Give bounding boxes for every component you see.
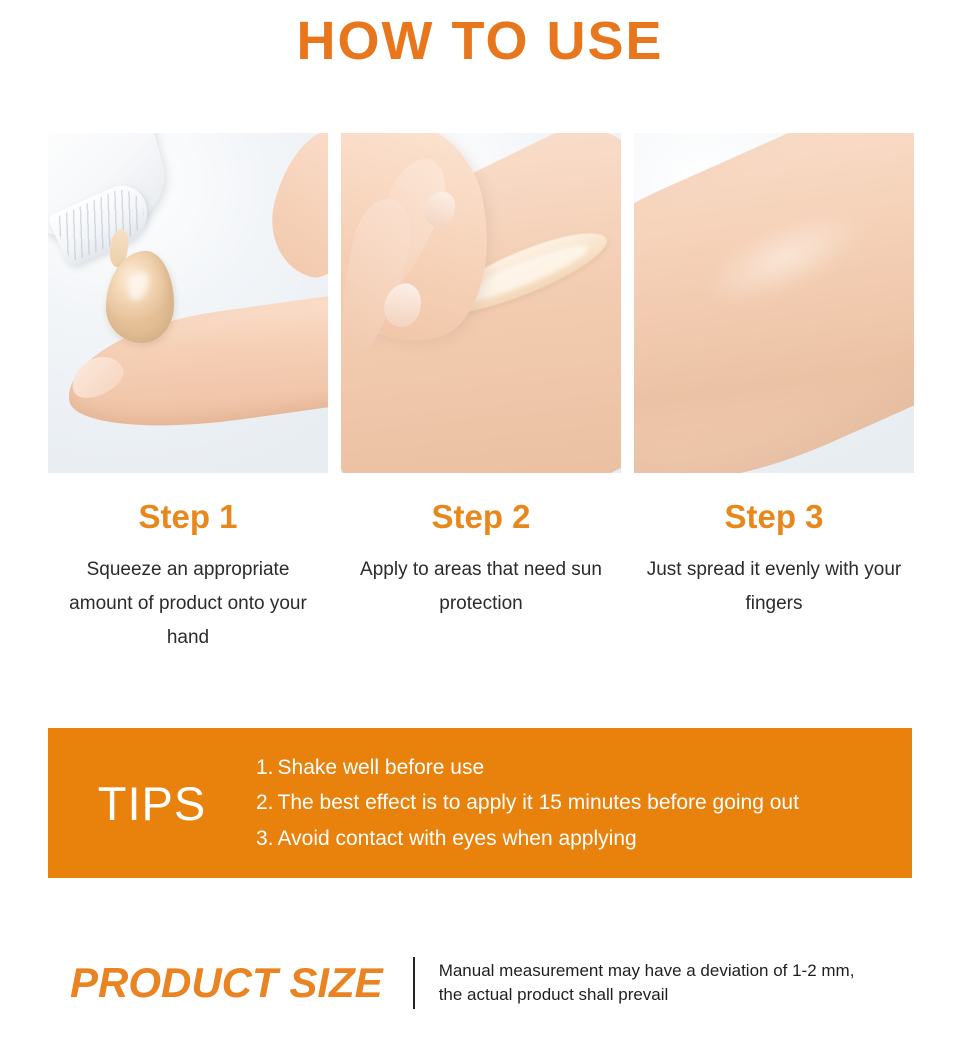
step-1-description: Squeeze an appropriate amount of product… [53, 553, 323, 654]
step-2-label: Step 2 [431, 500, 530, 533]
step-2-description: Apply to areas that need sun protection [346, 553, 616, 621]
page-title: HOW TO USE [0, 12, 960, 71]
step-1-image [48, 133, 328, 473]
tips-list: 1.Shake well before use 2.The best effec… [256, 750, 912, 856]
step-card-3: Step 3 Just spread it evenly with your f… [634, 133, 914, 654]
vertical-divider [413, 957, 415, 1009]
product-size-title: PRODUCT SIZE [70, 962, 383, 1004]
product-size-note: Manual measurement may have a deviation … [439, 959, 855, 1007]
step-3-label: Step 3 [724, 500, 823, 533]
tips-item-number: 3. [256, 827, 274, 850]
tips-item-number: 2. [256, 791, 274, 814]
tips-heading: TIPS [48, 780, 256, 827]
step-3-image [634, 133, 914, 473]
steps-row: Step 1 Squeeze an appropriate amount of … [48, 133, 914, 654]
step-1-label: Step 1 [138, 500, 237, 533]
tips-item-text: Shake well before use [278, 756, 485, 779]
product-size-note-line-2: the actual product shall prevail [439, 983, 855, 1007]
tips-list-item: 3.Avoid contact with eyes when applying [256, 821, 892, 856]
tips-banner: TIPS 1.Shake well before use 2.The best … [48, 728, 912, 878]
product-size-section: PRODUCT SIZE Manual measurement may have… [70, 957, 854, 1009]
step-card-2: Step 2 Apply to areas that need sun prot… [341, 133, 621, 654]
tips-list-item: 2.The best effect is to apply it 15 minu… [256, 785, 892, 820]
step-3-description: Just spread it evenly with your fingers [639, 553, 909, 621]
tips-item-text: Avoid contact with eyes when applying [278, 827, 637, 850]
step-card-1: Step 1 Squeeze an appropriate amount of … [48, 133, 328, 654]
tips-item-text: The best effect is to apply it 15 minute… [278, 791, 799, 814]
tips-list-item: 1.Shake well before use [256, 750, 892, 785]
product-size-note-line-1: Manual measurement may have a deviation … [439, 959, 855, 983]
tips-item-number: 1. [256, 756, 274, 779]
step-2-image [341, 133, 621, 473]
